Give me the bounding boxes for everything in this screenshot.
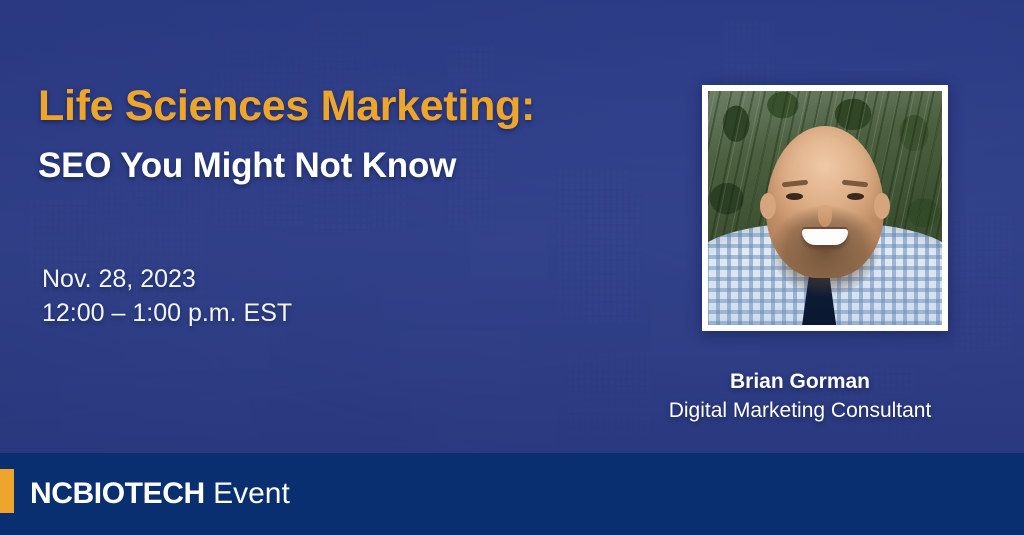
eye-left	[786, 193, 803, 200]
speaker-photo-frame	[702, 85, 948, 331]
event-time: 12:00 – 1:00 p.m. EST	[42, 296, 292, 330]
footer-brand-lockup: NCBIOTECH Event	[30, 477, 290, 511]
page-title: Life Sciences Marketing:	[38, 82, 535, 131]
brand-name: NCBIOTECH	[30, 477, 205, 510]
page-subtitle: SEO You Might Not Know	[38, 146, 456, 186]
speaker-headshot-image	[708, 91, 942, 325]
event-banner: Life Sciences Marketing: SEO You Might N…	[0, 0, 1024, 535]
eyebrow-left	[782, 179, 808, 187]
eye-right	[847, 193, 864, 200]
nose	[818, 205, 832, 227]
mouth	[802, 229, 848, 245]
eyebrow-right	[842, 179, 868, 187]
footer-bar: NCBIOTECH Event	[0, 453, 1024, 535]
gold-accent-bar	[0, 469, 14, 513]
event-datetime: Nov. 28, 2023 12:00 – 1:00 p.m. EST	[42, 262, 292, 330]
brand-suffix: Event	[213, 477, 290, 510]
speaker-credit: Brian Gorman Digital Marketing Consultan…	[600, 368, 1000, 426]
speaker-title: Digital Marketing Consultant	[600, 396, 1000, 426]
speaker-name: Brian Gorman	[600, 368, 1000, 396]
event-date: Nov. 28, 2023	[42, 262, 292, 296]
